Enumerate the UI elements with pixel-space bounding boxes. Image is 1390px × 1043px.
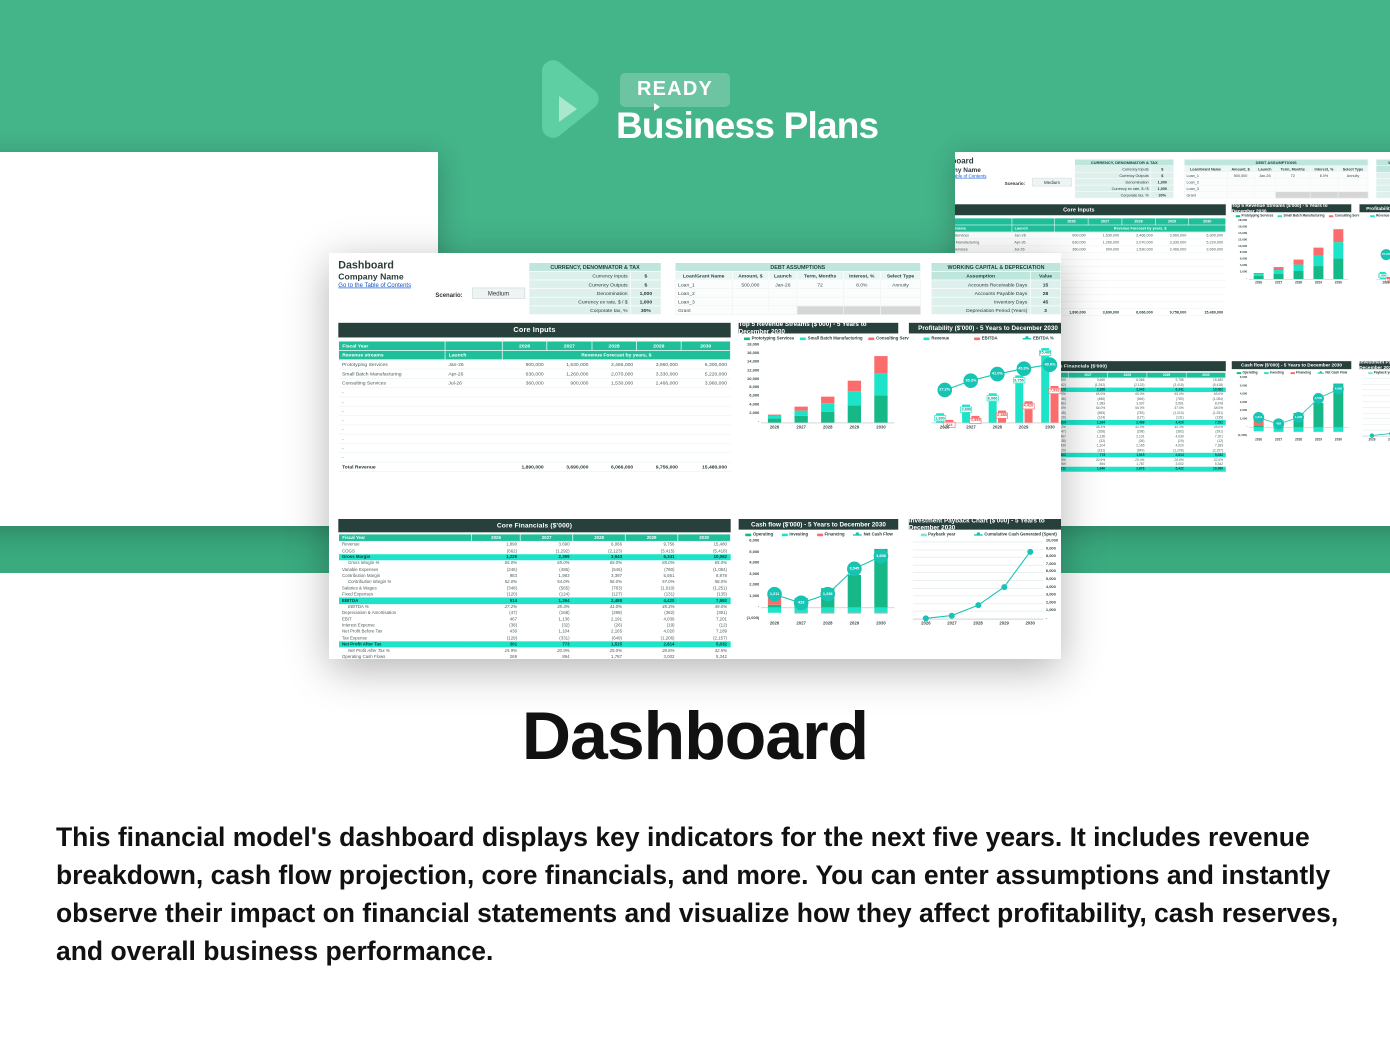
core-inputs-year-row: Fiscal Year20262027202820292030 [955, 218, 1226, 225]
chart-cash-flow: Cash flow ($'000) - 5 Years to December … [739, 519, 899, 631]
chart-cash-flow: Cash flow ($'000) - 5 Years to December … [1232, 361, 1352, 445]
core-inputs-value[interactable]: 1,530,000 [592, 378, 637, 387]
core-inputs-value[interactable]: 2,466,000 [1122, 232, 1156, 239]
core-inputs-empty-cell[interactable] [502, 453, 547, 462]
core-inputs-empty-cell[interactable] [547, 406, 592, 415]
chart-y-tick: 2,000 [1046, 601, 1061, 605]
chart-y-tick: 12,000 [1232, 238, 1247, 241]
core-inputs-value[interactable]: 900,000 [1055, 232, 1089, 239]
core-inputs-empty-row: - [339, 444, 731, 453]
core-inputs-year: 2026 [1055, 218, 1089, 225]
core-inputs-value[interactable]: 6,300,000 [681, 360, 730, 369]
debt-cell[interactable] [1254, 192, 1275, 198]
legend-label: Payback year [928, 532, 955, 537]
legend-label: Net Cash Flow [1325, 371, 1347, 374]
debt-cell[interactable] [769, 306, 797, 315]
core-inputs-stream-name: Prototyping Services [339, 360, 445, 369]
currency-row-value[interactable]: 30% [1151, 192, 1174, 198]
core-inputs-empty-cell[interactable] [592, 397, 637, 406]
core-inputs-empty-cell[interactable] [1122, 288, 1156, 295]
core-inputs-value[interactable]: 3,960,000 [681, 378, 730, 387]
core-inputs-launch[interactable]: Jul-26 [1012, 246, 1055, 253]
core-inputs-value[interactable]: 2,466,000 [592, 360, 637, 369]
core-inputs-empty-cell[interactable] [502, 406, 547, 415]
core-inputs-value[interactable]: 3,330,000 [1155, 239, 1189, 246]
chart-bar-segment [1313, 266, 1323, 279]
core-inputs-empty-cell[interactable] [681, 425, 730, 434]
chart-x-tick: 2027 [788, 621, 815, 626]
core-inputs-empty-cell[interactable]: - [339, 425, 445, 434]
core-inputs-subhead-row: Revenue streamsLaunchRevenue Forecast by… [955, 225, 1226, 232]
chart-line-point: 1,236 [820, 587, 835, 602]
legend-swatch [1023, 338, 1032, 339]
core-inputs-launch[interactable]: Apr-26 [1012, 239, 1055, 246]
core-inputs-value[interactable]: 1,260,000 [1088, 239, 1122, 246]
core-inputs-empty-cell[interactable] [681, 444, 730, 453]
debt-cell[interactable] [880, 306, 920, 315]
play-triangle-logo-icon [532, 59, 604, 139]
page-description: This financial model's dashboard display… [56, 818, 1346, 971]
core-inputs-row: Small Batch ManufacturingApr-26630,0001,… [955, 239, 1226, 246]
core-inputs-empty-cell[interactable] [1155, 295, 1189, 302]
legend-item: EBITDA % [1023, 336, 1054, 341]
chart-x-tick: 2028 [814, 621, 841, 626]
core-inputs-year: 2030 [681, 341, 730, 350]
core-inputs-empty-cell[interactable] [1122, 274, 1156, 281]
wc-column-header: Value [1030, 271, 1061, 280]
core-inputs-row: Prototyping ServicesJan-26900,0001,530,0… [339, 360, 731, 369]
core-inputs-empty-cell[interactable] [1088, 281, 1122, 288]
core-inputs-empty-cell[interactable] [636, 425, 681, 434]
core-inputs-empty-cell[interactable] [445, 416, 502, 425]
debt-cell[interactable]: 8.0% [843, 280, 880, 289]
core-inputs-empty-row: - [339, 397, 731, 406]
chart-line-point: 1,236 [1293, 412, 1304, 423]
core-inputs-empty-cell[interactable] [547, 425, 592, 434]
core-inputs-empty-cell[interactable] [445, 444, 502, 453]
core-inputs-empty-cell[interactable] [681, 397, 730, 406]
currency-row-label: Currency ex rate, $ / $ [529, 297, 631, 306]
core-inputs-empty-cell[interactable] [1122, 295, 1156, 302]
legend-item: Revenue [924, 336, 949, 341]
debt-cell[interactable] [1276, 192, 1310, 198]
core-inputs-value[interactable]: 900,000 [547, 378, 592, 387]
legend-swatch [1290, 372, 1294, 374]
core-inputs-empty-cell[interactable] [547, 416, 592, 425]
chart-zero-line [913, 619, 1043, 620]
core-inputs-empty-cell[interactable]: - [339, 434, 445, 443]
chart-bar-segment [768, 414, 782, 416]
core-inputs-empty-cell[interactable] [1122, 302, 1156, 309]
legend-label: EBITDA % [1033, 336, 1054, 341]
legend-item: Cumulative Cash Generated (Spent) [974, 532, 1057, 537]
page-title: Dashboard [0, 697, 1390, 775]
wc-row-value[interactable]: 45 [1030, 297, 1061, 306]
chart-bar-segment [794, 411, 808, 416]
core-financials-year: 2029 [625, 534, 677, 541]
scenario-select[interactable]: Medium [472, 288, 525, 299]
core-inputs-empty-cell[interactable] [592, 425, 637, 434]
legend-item: Payback year [921, 532, 956, 537]
currency-row-label: Currency Outputs [529, 280, 631, 289]
debt-cell: Loan_1 [675, 280, 732, 289]
wc-row: Inventory Days45 [931, 297, 1061, 306]
core-inputs-total-value: 15,480,000 [1189, 309, 1226, 316]
core-financials-header-row: Fiscal Year20262027202820292030 [339, 534, 731, 541]
core-inputs-value[interactable]: 6,300,000 [1189, 232, 1226, 239]
core-financials-table: Fiscal Year20262027202820292030Revenue1,… [338, 534, 730, 659]
chart-bar-segment [768, 416, 782, 419]
core-financials-cell: 269 [472, 654, 521, 659]
core-inputs-empty-cell[interactable] [547, 444, 592, 453]
chart-y-tick: 8,000 [1046, 554, 1061, 558]
debt-cell[interactable] [843, 289, 880, 298]
core-inputs-empty-cell[interactable] [636, 453, 681, 462]
core-inputs-empty-cell[interactable] [502, 425, 547, 434]
core-inputs-empty-cell[interactable] [1088, 260, 1122, 267]
core-inputs-empty-cell[interactable]: - [339, 453, 445, 462]
debt-cell[interactable] [797, 306, 843, 315]
core-inputs-empty-cell[interactable] [1088, 288, 1122, 295]
core-inputs-empty-cell[interactable] [636, 388, 681, 397]
core-financials-year: 2026 [472, 534, 521, 541]
sheet-company: Company Name [338, 272, 411, 282]
core-financials-cell: 894 [520, 654, 572, 659]
chart-bar-segment [1253, 274, 1263, 276]
debt-cell[interactable] [732, 297, 768, 306]
core-inputs-value[interactable]: 5,220,000 [1189, 239, 1226, 246]
core-inputs-launch[interactable]: Jan-26 [445, 360, 502, 369]
core-inputs-empty-cell[interactable] [445, 397, 502, 406]
core-inputs-empty-cell[interactable] [1189, 267, 1226, 274]
core-inputs-fiscal-year-label: Fiscal Year [955, 218, 1012, 225]
chart-y-tick: 5,000 [1046, 578, 1061, 582]
core-inputs-empty-cell[interactable] [1189, 281, 1226, 288]
chart-bar-segment [794, 416, 808, 423]
core-financials-cell: 9,756 [625, 541, 677, 548]
core-inputs-forecast-label: Revenue Forecast by years, $ [502, 350, 730, 359]
chart-y-tick: (1,000) [739, 616, 759, 620]
core-inputs-value[interactable]: 1,530,000 [547, 360, 592, 369]
chart-bar-segment [1293, 271, 1303, 279]
core-inputs-empty-cell[interactable] [445, 388, 502, 397]
currency-row-label: Denomination [529, 289, 631, 298]
core-inputs-value[interactable]: 630,000 [1055, 239, 1089, 246]
core-inputs-row: Consulting ServicesJul-26360,000900,0001… [955, 246, 1226, 253]
core-inputs-value[interactable]: 3,960,000 [1155, 232, 1189, 239]
chart-bar-segment [1273, 270, 1283, 274]
core-inputs-empty-cell[interactable] [592, 416, 637, 425]
core-inputs-empty-cell[interactable] [547, 388, 592, 397]
core-inputs-empty-cell[interactable] [1189, 295, 1226, 302]
core-inputs-empty-cell[interactable] [1122, 281, 1156, 288]
chart-bar-segment [874, 356, 888, 373]
core-inputs-launch-label: Launch [445, 350, 502, 359]
legend-swatch [782, 533, 788, 536]
debt-cell[interactable] [880, 289, 920, 298]
core-inputs-empty-cell[interactable] [681, 434, 730, 443]
core-inputs-empty-cell[interactable] [445, 453, 502, 462]
debt-cell: Loan_2 [675, 289, 732, 298]
legend-item: Net Cash Flow [853, 532, 893, 537]
chart-x-tick: 2027 [939, 621, 965, 626]
core-inputs-empty-cell[interactable] [1155, 267, 1189, 274]
debt-cell: Loan_3 [675, 297, 732, 306]
legend-item: Revenue [1370, 214, 1389, 217]
core-inputs-empty-cell[interactable] [445, 434, 502, 443]
core-inputs-empty-cell[interactable] [636, 406, 681, 415]
core-inputs-empty-cell[interactable] [592, 406, 637, 415]
chart-y-tick: 12,000 [739, 368, 759, 372]
chart-x-tick: 2026 [761, 621, 788, 626]
chart-plot-area-cash-flow: 6,0005,0004,0003,0002,0001,000-(1,000)1,… [761, 542, 894, 619]
legend-swatch [1236, 215, 1240, 217]
core-inputs-section-bar: Core Inputs [338, 323, 730, 338]
chart-title-investment-payback: Investment Payback Chart ($'000) - 5 Yea… [909, 519, 1061, 530]
core-inputs-value[interactable]: 630,000 [502, 369, 547, 378]
core-inputs-value[interactable]: 900,000 [1088, 246, 1122, 253]
legend-swatch [974, 534, 983, 535]
chart-y-tick: 8,000 [739, 386, 759, 390]
core-inputs-empty-cell[interactable] [636, 444, 681, 453]
debt-row: Loan_1500,000Jan-26728.0%Annuity [675, 280, 920, 289]
currency-row-value[interactable]: 1,000 [631, 297, 662, 306]
chart-line-point [1001, 584, 1007, 590]
core-inputs-empty-cell[interactable] [1189, 288, 1226, 295]
core-inputs-empty-cell[interactable] [681, 453, 730, 462]
chart-y-tick: 4,000 [1232, 264, 1247, 267]
currency-row-value[interactable]: 30% [631, 306, 662, 315]
core-inputs-empty-cell[interactable] [1155, 288, 1189, 295]
chart-bar-segment [847, 406, 861, 423]
sheet-title: Dashboard [955, 157, 986, 166]
core-inputs-empty-cell[interactable] [1088, 253, 1122, 260]
chart-y-tick: 2,000 [1232, 271, 1247, 274]
chart-zero-line [761, 423, 894, 424]
debt-cell[interactable] [797, 297, 843, 306]
wc-row-value[interactable]: 3 [1030, 306, 1061, 315]
toc-link[interactable]: Go to the Table of Contents [955, 173, 986, 178]
currency-row-value[interactable]: 1,000 [631, 289, 662, 298]
core-inputs-empty-cell[interactable] [502, 397, 547, 406]
core-inputs-empty-cell[interactable] [1189, 274, 1226, 281]
debt-cell[interactable]: 500,000 [732, 280, 768, 289]
currency-row: Currency Inputs$ [529, 271, 661, 280]
core-inputs-empty-cell[interactable] [502, 444, 547, 453]
chart-title-investment-payback: Investment Payback Chart ($'000) - 5 Yea… [1359, 361, 1390, 369]
chart-bar-segment [874, 373, 888, 395]
core-inputs-empty-cell[interactable] [636, 397, 681, 406]
legend-item: Small Batch Manufacturing [800, 336, 862, 341]
debt-cell[interactable] [732, 289, 768, 298]
core-financials-cell: 3,002 [625, 654, 677, 659]
core-inputs-empty-cell[interactable]: - [339, 444, 445, 453]
core-inputs-empty-cell[interactable] [1122, 260, 1156, 267]
core-inputs-empty-cell[interactable] [1088, 274, 1122, 281]
core-inputs-empty-cell[interactable] [681, 416, 730, 425]
core-inputs-value[interactable]: 900,000 [502, 360, 547, 369]
legend-label: Financing [1296, 371, 1311, 374]
chart-y-tick: 4,000 [1232, 393, 1247, 396]
core-inputs-value[interactable]: 1,260,000 [547, 369, 592, 378]
legend-swatch [869, 337, 875, 340]
legend-item: Prototyping Services [744, 336, 794, 341]
chart-bar-segment [847, 381, 861, 392]
currency-row: Currency ex rate, $ / $1,000 [529, 297, 661, 306]
core-inputs-empty-cell[interactable] [502, 434, 547, 443]
legend-swatch [1237, 372, 1241, 374]
core-inputs-value[interactable]: 2,070,000 [1122, 239, 1156, 246]
core-inputs-empty-cell[interactable] [1189, 302, 1226, 309]
core-financials-year: 2028 [573, 534, 625, 541]
core-inputs-year: 2030 [1189, 218, 1226, 225]
core-inputs-row: Prototyping ServicesJan-26900,0001,530,0… [955, 232, 1226, 239]
debt-cell[interactable] [880, 297, 920, 306]
core-inputs-empty-cell[interactable] [1155, 281, 1189, 288]
chart-plot-area-top5-revenue-streams: 18,00016,00014,00012,00010,0008,0006,000… [761, 345, 894, 422]
debt-row: Grant [675, 306, 920, 315]
core-inputs-empty-cell[interactable] [1189, 260, 1226, 267]
core-inputs-value[interactable]: 2,070,000 [592, 369, 637, 378]
core-inputs-value[interactable]: 360,000 [1055, 246, 1089, 253]
sheet-company: Company Name [955, 166, 986, 173]
debt-cell[interactable]: Jan-26 [769, 280, 797, 289]
core-inputs-empty-cell[interactable] [1189, 253, 1226, 260]
core-inputs-empty-cell[interactable] [445, 425, 502, 434]
core-inputs-empty-row: - [339, 434, 731, 443]
core-inputs-value[interactable]: 1,530,000 [1122, 246, 1156, 253]
chart-y-tick: 6,000 [1232, 376, 1247, 379]
wc-row-value[interactable]: 28 [1030, 289, 1061, 298]
core-inputs-value[interactable]: 360,000 [502, 378, 547, 387]
chart-line-point [949, 613, 955, 619]
core-inputs-stream-name: Small Batch Manufacturing [339, 369, 445, 378]
core-financials-year: 2030 [678, 534, 730, 541]
debt-cell[interactable] [769, 297, 797, 306]
debt-cell[interactable] [797, 289, 843, 298]
core-inputs-empty-cell[interactable]: - [339, 397, 445, 406]
core-inputs-value[interactable]: 3,960,000 [636, 360, 681, 369]
core-inputs-empty-cell[interactable] [547, 434, 592, 443]
core-inputs-launch[interactable]: Apr-26 [445, 369, 502, 378]
core-inputs-year-row: Fiscal Year20262027202820292030 [339, 341, 731, 350]
debt-cell[interactable]: 72 [797, 280, 843, 289]
debt-cell[interactable]: Annuity [880, 280, 920, 289]
debt-assumptions-block: DEBT ASSUMPTIONSLoan/Grant NameAmount, $… [675, 262, 921, 315]
core-inputs-empty-cell[interactable] [1088, 267, 1122, 274]
core-inputs-empty-cell[interactable] [1122, 267, 1156, 274]
core-financials-row: Operating Cash Flows2698941,7873,0025,34… [339, 654, 731, 659]
chart-x-tick: 2028 [814, 425, 841, 430]
legend-label: Investing [1270, 371, 1284, 374]
core-inputs-value[interactable]: 3,960,000 [1189, 246, 1226, 253]
legend-label: Prototyping Services [752, 336, 795, 341]
debt-cell[interactable] [843, 306, 880, 315]
chart-y-tick: 16,000 [1232, 226, 1247, 229]
debt-cell[interactable] [1338, 192, 1368, 198]
chart-title-profitability: Profitability ($'000) - 5 Years to Decem… [1359, 204, 1390, 212]
core-inputs-empty-cell[interactable]: - [339, 406, 445, 415]
toc-link[interactable]: Go to the Table of Contents [338, 282, 411, 289]
debt-cell[interactable] [732, 306, 768, 315]
wc-title-row: WORKING CAPITAL & DEPRECIATION [931, 263, 1061, 272]
core-inputs-empty-cell[interactable] [547, 453, 592, 462]
core-inputs-empty-cell[interactable]: - [339, 388, 445, 397]
core-inputs-year: 2029 [636, 341, 681, 350]
chart-title-cash-flow: Cash flow ($'000) - 5 Years to December … [739, 519, 899, 530]
core-inputs-value[interactable]: 1,530,000 [1088, 232, 1122, 239]
legend-label: Revenue [1376, 214, 1389, 217]
core-inputs-empty-cell[interactable] [1155, 260, 1189, 267]
core-inputs-launch[interactable]: Jul-26 [445, 378, 502, 387]
sheet-header: DashboardCompany NameGo to the Table of … [955, 157, 986, 178]
core-inputs-empty-cell[interactable] [445, 406, 502, 415]
core-inputs-empty-cell[interactable] [502, 416, 547, 425]
legend-item: Operating [745, 532, 773, 537]
core-inputs-empty-cell[interactable] [547, 397, 592, 406]
chart-x-tick: 2027 [958, 425, 984, 430]
scenario-select[interactable]: Medium [1032, 178, 1072, 186]
debt-cell[interactable] [1310, 192, 1338, 198]
core-inputs-empty-cell[interactable] [1155, 302, 1189, 309]
core-inputs-empty-cell[interactable] [681, 406, 730, 415]
core-inputs-launch-label: Launch [1012, 225, 1055, 232]
core-inputs-empty-cell[interactable] [1088, 295, 1122, 302]
core-inputs-blank [445, 341, 502, 350]
core-inputs-empty-cell[interactable] [1155, 253, 1189, 260]
core-inputs-empty-cell[interactable] [636, 416, 681, 425]
debt-cell[interactable] [1227, 192, 1254, 198]
core-inputs-value[interactable]: 5,220,000 [681, 369, 730, 378]
debt-header-row: Loan/Grant NameAmount, $LaunchTerm, Mont… [675, 271, 920, 280]
debt-column-header: Loan/Grant Name [675, 271, 732, 280]
core-inputs-value[interactable]: 2,466,000 [636, 378, 681, 387]
core-inputs-empty-cell[interactable] [1122, 253, 1156, 260]
core-inputs-empty-cell[interactable] [592, 388, 637, 397]
debt-cell[interactable] [769, 289, 797, 298]
chart-bar-segment [1273, 267, 1283, 270]
core-inputs-launch[interactable]: Jan-26 [1012, 232, 1055, 239]
core-inputs-total-value: 3,690,000 [547, 462, 592, 471]
chart-bar-segment [821, 397, 835, 404]
core-inputs-value[interactable]: 3,330,000 [636, 369, 681, 378]
legend-swatch [1370, 215, 1374, 217]
currency-row-value[interactable]: $ [631, 271, 662, 280]
debt-cell[interactable] [843, 297, 880, 306]
core-inputs-total-value: 1,890,000 [502, 462, 547, 471]
chart-x-tick: 2026 [1249, 438, 1269, 441]
core-inputs-empty-cell[interactable]: - [339, 416, 445, 425]
core-inputs-empty-cell[interactable] [636, 434, 681, 443]
core-inputs-total-value: 3,690,000 [1088, 309, 1122, 316]
chart-y-tick: 1,000 [1046, 608, 1061, 612]
core-inputs-value[interactable]: 2,466,000 [1155, 246, 1189, 253]
wc-row-value[interactable]: 15 [1030, 280, 1061, 289]
core-inputs-empty-cell[interactable] [592, 444, 637, 453]
currency-row-value[interactable]: $ [631, 280, 662, 289]
core-inputs-empty-cell[interactable] [1088, 302, 1122, 309]
chart-bar-segment [821, 403, 835, 412]
chart-y-tick: 18,000 [1232, 219, 1247, 222]
core-inputs-empty-cell[interactable] [592, 453, 637, 462]
chart-x-tick: 2026 [913, 621, 939, 626]
core-inputs-empty-cell[interactable] [681, 388, 730, 397]
core-inputs-empty-cell[interactable] [1155, 274, 1189, 281]
chart-y-tick: 10,000 [1046, 539, 1061, 543]
scenario-label: Scenario: [1005, 181, 1025, 186]
core-inputs-empty-cell[interactable] [502, 388, 547, 397]
core-inputs-empty-cell[interactable] [592, 434, 637, 443]
